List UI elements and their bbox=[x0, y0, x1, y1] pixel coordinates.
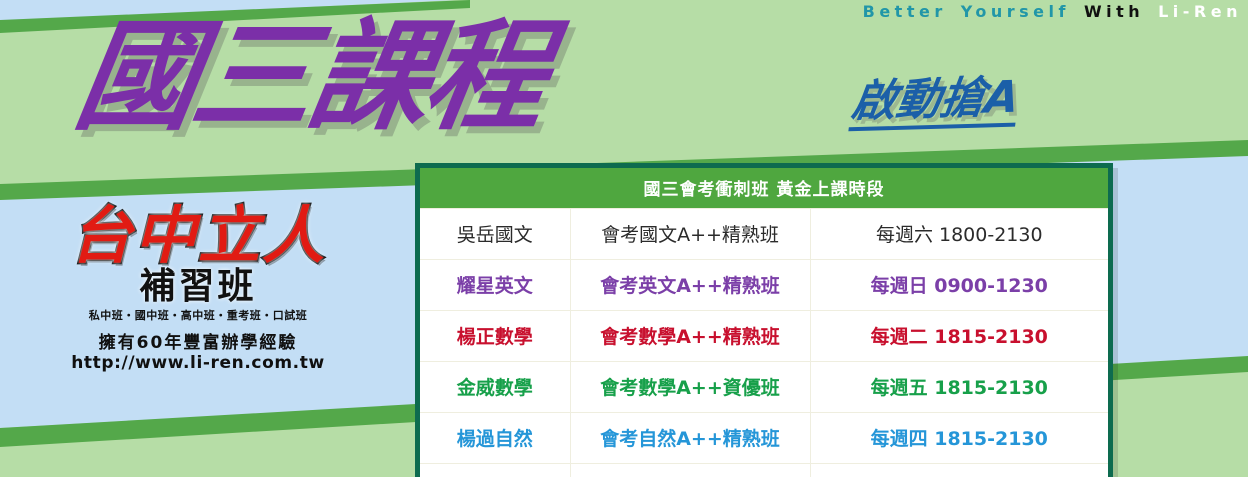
table-row: 耀星英文會考英文A++精熟班每週日 0900-1230 bbox=[420, 260, 1108, 311]
tagline-word-better: Better bbox=[863, 2, 947, 21]
logo-class-tags: 私中班・國中班・高中班・重考班・口試班 bbox=[18, 310, 378, 321]
cell-course: 會考英文A++精熟班 bbox=[570, 260, 810, 311]
cell-teacher: 林大雄社會 bbox=[420, 464, 570, 477]
cell-course: 會考數學A++精熟班 bbox=[570, 311, 810, 362]
cell-course: 會考國文A++精熟班 bbox=[570, 209, 810, 260]
tagline: BetterYourselfWithLi-Ren bbox=[863, 2, 1242, 21]
promo-banner: BetterYourselfWithLi-Ren 國三課程 啟動搶A 台中立人 … bbox=[0, 0, 1248, 477]
logo-brand-name: 台中立人 bbox=[18, 205, 378, 267]
tagline-word-with: With bbox=[1084, 2, 1144, 21]
cell-course: 會考社會A++精熟班 bbox=[570, 464, 810, 477]
schedule-table: 國三會考衝刺班 黃金上課時段 吳岳國文會考國文A++精熟班每週六 1800-21… bbox=[420, 168, 1108, 477]
page-subtitle: 啟動搶A bbox=[848, 76, 1021, 132]
table-row: 吳岳國文會考國文A++精熟班每週六 1800-2130 bbox=[420, 209, 1108, 260]
schedule-table-body: 吳岳國文會考國文A++精熟班每週六 1800-2130耀星英文會考英文A++精熟… bbox=[420, 209, 1108, 477]
cell-time: 每週四 1815-2130 bbox=[810, 413, 1108, 464]
logo-brand-type: 補習班 bbox=[18, 269, 378, 305]
table-header-title: 國三會考衝刺班 黃金上課時段 bbox=[420, 168, 1108, 209]
cell-time: 每週日 1330-1700 bbox=[810, 464, 1108, 477]
cell-teacher: 耀星英文 bbox=[420, 260, 570, 311]
schedule-table-container: 國三會考衝刺班 黃金上課時段 吳岳國文會考國文A++精熟班每週六 1800-21… bbox=[415, 163, 1113, 477]
logo-website-url[interactable]: http://www.li-ren.com.tw bbox=[18, 354, 378, 374]
cell-teacher: 吳岳國文 bbox=[420, 209, 570, 260]
cell-time: 每週五 1815-2130 bbox=[810, 362, 1108, 413]
cell-teacher: 楊正數學 bbox=[420, 311, 570, 362]
logo: 台中立人 補習班 私中班・國中班・高中班・重考班・口試班 擁有60年豐富辦學經驗… bbox=[18, 205, 378, 373]
table-row: 金威數學會考數學A++資優班每週五 1815-2130 bbox=[420, 362, 1108, 413]
tagline-word-liren: Li-Ren bbox=[1158, 2, 1242, 21]
cell-time: 每週日 0900-1230 bbox=[810, 260, 1108, 311]
cell-course: 會考自然A++精熟班 bbox=[570, 413, 810, 464]
cell-teacher: 楊過自然 bbox=[420, 413, 570, 464]
table-header-row: 國三會考衝刺班 黃金上課時段 bbox=[420, 168, 1108, 209]
cell-teacher: 金威數學 bbox=[420, 362, 570, 413]
logo-experience-text: 擁有60年豐富辦學經驗 bbox=[18, 334, 378, 354]
page-title: 國三課程 bbox=[68, 18, 551, 138]
cell-course: 會考數學A++資優班 bbox=[570, 362, 810, 413]
cell-time: 每週六 1800-2130 bbox=[810, 209, 1108, 260]
table-row: 楊正數學會考數學A++精熟班每週二 1815-2130 bbox=[420, 311, 1108, 362]
table-row: 林大雄社會會考社會A++精熟班每週日 1330-1700 bbox=[420, 464, 1108, 477]
table-row: 楊過自然會考自然A++精熟班每週四 1815-2130 bbox=[420, 413, 1108, 464]
tagline-word-yourself: Yourself bbox=[961, 2, 1070, 21]
cell-time: 每週二 1815-2130 bbox=[810, 311, 1108, 362]
